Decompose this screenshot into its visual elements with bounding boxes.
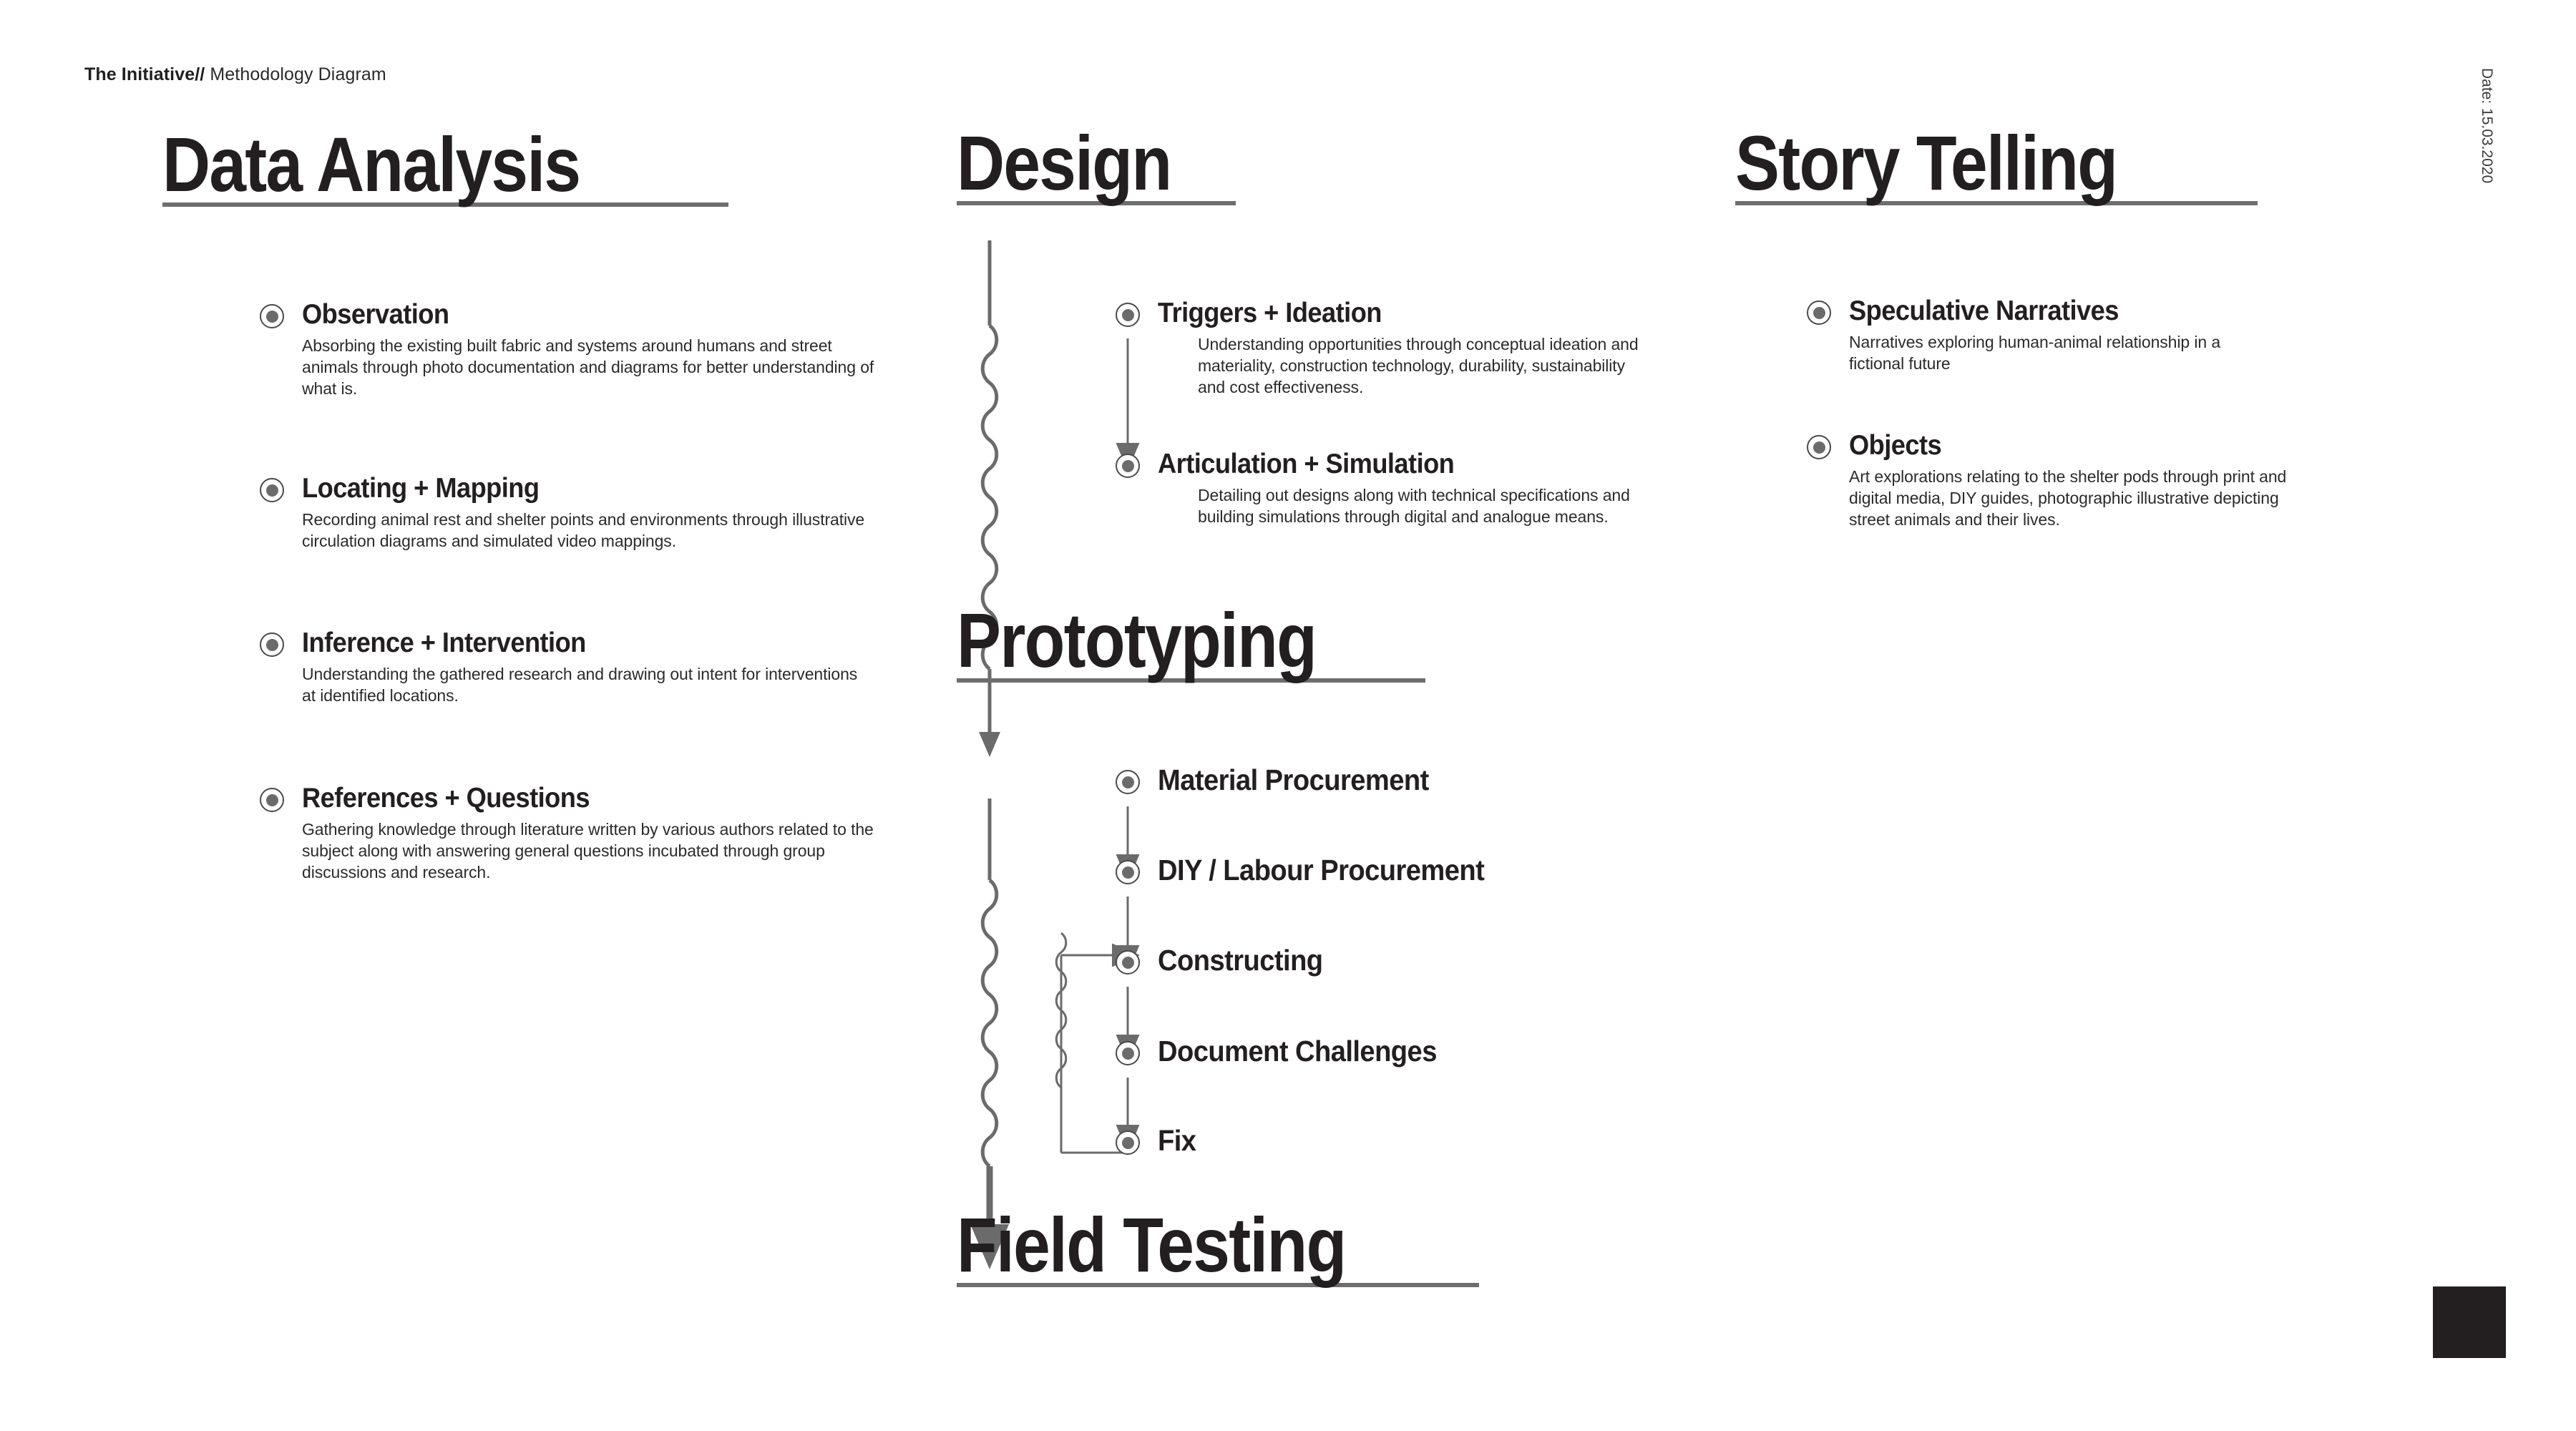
radio-bullet-icon [1116,1041,1140,1065]
methodology-diagram-page: The Initiative// Methodology Diagram Dat… [0,0,2576,1431]
item-title: Constructing [1158,944,1323,977]
section-heading-story-telling: Story Telling [1735,127,2258,205]
radio-bullet-icon [260,788,284,812]
section-heading-field-testing: Field Testing [957,1209,1479,1287]
item-title: Fix [1158,1124,1196,1158]
section-heading-label: Design [957,127,1196,198]
radio-bullet-icon [1116,950,1140,975]
date-stamp: Date: 15.03.2020 [2478,68,2495,183]
item-body: Understanding the gathered research and … [302,664,874,707]
radio-bullet-icon [1116,860,1140,884]
item-title: References + Questions [302,783,590,814]
item-title: DIY / Labour Procurement [1158,854,1484,887]
item-body: Gathering knowledge through literature w… [302,819,882,884]
radio-bullet-icon [1116,454,1140,478]
item-title: Document Challenges [1158,1035,1437,1068]
corner-mark [2433,1286,2506,1358]
page-header: The Initiative// Methodology Diagram [84,64,386,85]
section-heading-label: Field Testing [957,1209,1406,1280]
section-heading-label: Prototyping [957,605,1360,675]
item-title: Locating + Mapping [302,473,540,504]
radio-bullet-icon [1116,303,1140,327]
radio-bullet-icon [1116,770,1140,794]
item-title: Material Procurement [1158,763,1429,797]
page-title: Methodology Diagram [210,64,386,84]
section-heading-data-analysis: Data Analysis [162,129,728,207]
radio-bullet-icon [1807,435,1831,459]
item-body: Art explorations relating to the shelter… [1849,467,2307,531]
item-body: Detailing out designs along with technic… [1198,485,1641,528]
item-body: Narratives exploring human-animal relati… [1849,332,2278,375]
item-body: Understanding opportunities through conc… [1198,334,1641,399]
section-heading-prototyping: Prototyping [957,605,1425,683]
radio-bullet-icon [260,478,284,502]
item-body: Recording animal rest and shelter points… [302,509,874,552]
radio-bullet-icon [1116,1130,1140,1155]
item-body: Absorbing the existing built fabric and … [302,336,874,400]
section-heading-label: Data Analysis [162,129,649,200]
section-heading-label: Story Telling [1735,127,2185,198]
item-title: Articulation + Simulation [1158,449,1454,480]
prototyping-spine-wire [982,798,997,1231]
brand-label: The Initiative [84,64,195,84]
item-title: Speculative Narratives [1849,296,2119,327]
item-title: Triggers + Ideation [1158,298,1382,329]
radio-bullet-icon [260,304,284,328]
section-heading-design: Design [957,127,1236,205]
radio-bullet-icon [260,633,284,657]
header-separator: // [195,64,205,84]
item-title: Observation [302,299,449,331]
item-title: Inference + Intervention [302,627,586,659]
radio-bullet-icon [1807,301,1831,325]
item-title: Objects [1849,430,1941,461]
